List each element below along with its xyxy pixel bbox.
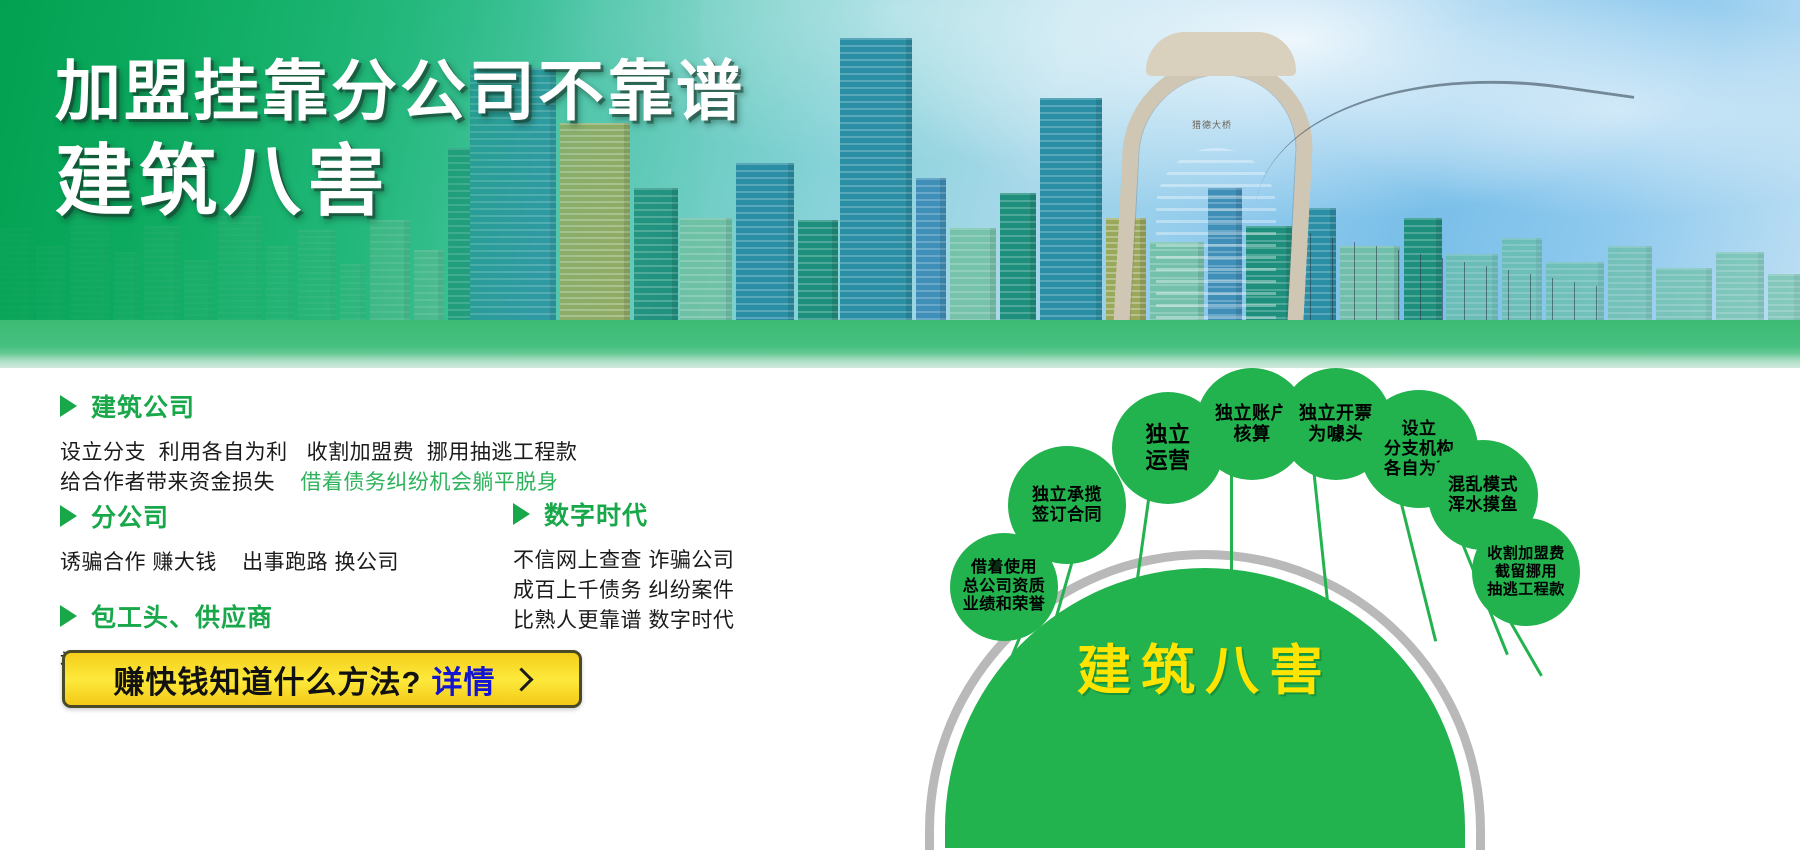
section-header: 数字时代: [513, 496, 813, 532]
section-body: 诱骗合作 赚大钱 出事跑路 换公司: [60, 548, 490, 578]
section-line: 不信网上查查 诈骗公司: [513, 546, 813, 576]
dome-center-text: 建筑八害: [1077, 626, 1333, 705]
section-line: 成百上千债务 纠纷案件: [513, 576, 813, 606]
section-body: 不信网上查查 诈骗公司 成百上千债务 纠纷案件 比熟人更靠谱 数字时代: [513, 546, 813, 635]
chevron-right-icon: [510, 667, 534, 691]
hero-title-group: 加盟挂靠分公司不靠谱 建筑八害: [55, 56, 745, 224]
highlight-text: 借着债务纠纷机会躺平脱身: [300, 471, 558, 494]
hero-banner: 猎德大桥 加盟挂靠分公司不靠谱 建筑八害: [0, 0, 1800, 368]
section-branch-company: 分公司 诱骗合作 赚大钱 出事跑路 换公司: [60, 498, 490, 578]
hero-title-line-2: 建筑八害: [55, 139, 745, 223]
bubble-item[interactable]: 独立承揽 签订合同: [1008, 446, 1126, 564]
section-line: 给合作者带来资金损失 借着债务纠纷机会躺平脱身: [60, 468, 580, 498]
poster-root: 猎德大桥 加盟挂靠分公司不靠谱 建筑八害 建筑公司 设立分支 利用各自为利 收割…: [0, 0, 1800, 844]
bubble-diagram: 建筑八害 借着使用 总公司资质 业绩和荣誉 独立承揽 签订合同 独立 运营 独立…: [880, 368, 1800, 844]
triangle-right-icon: [60, 505, 77, 527]
bubble-label: 收割加盟费 截留挪用 抽逃工程款: [1487, 545, 1565, 598]
bridge-illustration: 猎德大桥: [1060, 38, 1620, 338]
bubble-label: 独立账户 核算: [1215, 403, 1289, 445]
bridge-arch-cap: [1146, 32, 1296, 76]
section-title: 数字时代: [544, 496, 648, 532]
section-header: 分公司: [60, 498, 490, 534]
section-line: 比熟人更靠谱 数字时代: [513, 606, 813, 636]
section-title: 包工头、供应商: [91, 598, 273, 634]
bubble-item[interactable]: 收割加盟费 截留挪用 抽逃工程款: [1472, 518, 1580, 626]
triangle-right-icon: [513, 503, 530, 525]
cta-details-link[interactable]: 详情: [431, 657, 495, 702]
triangle-right-icon: [60, 605, 77, 627]
bridge-name-label: 猎德大桥: [1192, 118, 1232, 131]
section-digital-era: 数字时代 不信网上查查 诈骗公司 成百上千债务 纠纷案件 比熟人更靠谱 数字时代: [513, 496, 813, 635]
hero-bottom-fade: [0, 354, 1800, 368]
section-body: 设立分支 利用各自为利 收割加盟费 挪用抽逃工程款 给合作者带来资金损失 借着债…: [60, 438, 580, 498]
bubble-label: 借着使用 总公司资质 业绩和荣誉: [963, 559, 1046, 616]
bubble-label: 混乱模式 浑水摸鱼: [1448, 475, 1518, 515]
hero-title-line-1: 加盟挂靠分公司不靠谱: [55, 56, 745, 127]
cta-button[interactable]: 赚快钱知道什么方法? 详情: [62, 650, 582, 708]
left-content-panel: 建筑公司 设立分支 利用各自为利 收割加盟费 挪用抽逃工程款 给合作者带来资金损…: [0, 368, 880, 844]
cta-label: 赚快钱知道什么方法?: [114, 657, 422, 702]
section-building-company: 建筑公司 设立分支 利用各自为利 收割加盟费 挪用抽逃工程款 给合作者带来资金损…: [60, 388, 580, 498]
section-line: 设立分支 利用各自为利 收割加盟费 挪用抽逃工程款: [60, 438, 580, 468]
section-header: 包工头、供应商: [60, 598, 530, 634]
triangle-right-icon: [60, 395, 77, 417]
bridge-arch-inner: [1156, 148, 1276, 338]
bubble-label: 独立 运营: [1145, 422, 1190, 474]
section-title: 建筑公司: [91, 388, 195, 424]
section-line: 诱骗合作 赚大钱 出事跑路 换公司: [60, 548, 490, 578]
bridge-main-cable: [1256, 46, 1635, 255]
section-title: 分公司: [91, 498, 169, 534]
bubble-stem: [1230, 468, 1233, 638]
bubble-label: 独立承揽 签订合同: [1032, 485, 1102, 525]
section-header: 建筑公司: [60, 388, 580, 424]
